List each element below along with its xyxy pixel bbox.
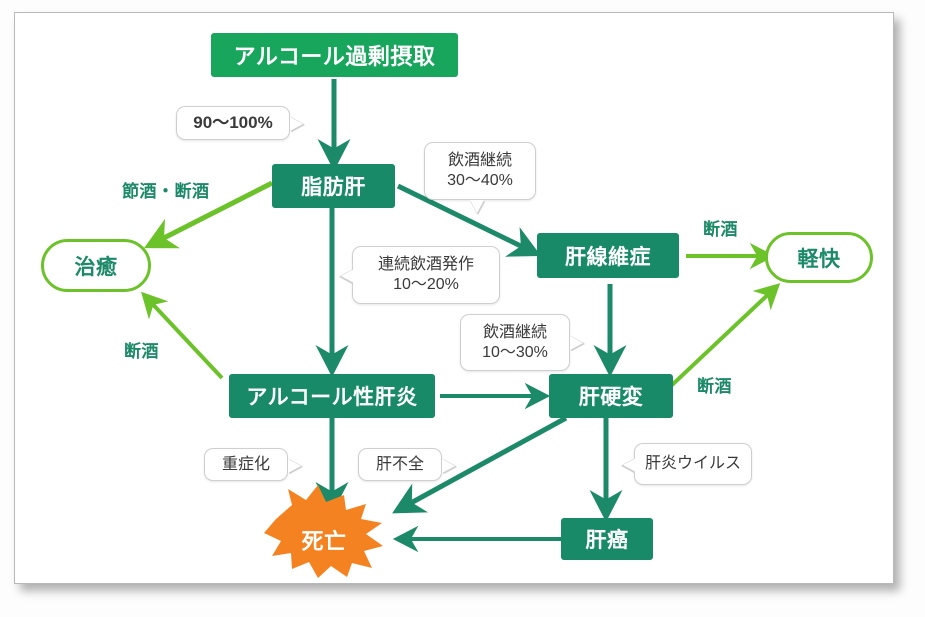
node-liver-cancer[interactable]: 肝癌	[561, 518, 653, 560]
bubble-drinking-continued-30-40: 飲酒継続 30〜40%	[424, 142, 536, 200]
node-label: 肝線維症	[565, 241, 651, 271]
node-label: アルコール性肝炎	[246, 381, 417, 411]
bubble-line: 10〜20%	[393, 275, 459, 295]
bubble-line: 飲酒継続	[448, 151, 512, 171]
node-fatty-liver[interactable]: 脂肪肝	[272, 164, 395, 208]
node-cure[interactable]: 治癒	[41, 239, 151, 292]
bubble-line: 連続飲酒発作	[378, 255, 474, 275]
node-label: 肝癌	[586, 524, 629, 554]
edge-label-abstinence-fibrosis: 断酒	[703, 215, 738, 240]
bubble-line: 飲酒継続	[483, 323, 547, 343]
node-label: 治癒	[75, 251, 118, 281]
node-alcoholic-hepatitis[interactable]: アルコール性肝炎	[229, 374, 435, 418]
edge-label-abstinence-hepatitis: 断酒	[124, 337, 159, 362]
bubble-rate-90-100: 90〜100%	[176, 106, 290, 140]
edge-label-moderation-abstinence: 節酒・断酒	[122, 177, 210, 202]
bubble-line: 30〜40%	[447, 171, 513, 191]
node-improvement[interactable]: 軽快	[765, 232, 873, 283]
bubble-line: 重症化	[222, 455, 270, 475]
bubble-tail-down-icon	[470, 200, 484, 213]
node-excess-alcohol[interactable]: アルコール過剰摂取	[211, 33, 458, 77]
bubble-tail-left-icon	[623, 458, 636, 472]
node-liver-fibrosis[interactable]: 肝線維症	[537, 233, 679, 278]
bubble-line: 10〜30%	[482, 343, 548, 363]
node-label: 肝硬変	[579, 381, 644, 411]
node-label: アルコール過剰摂取	[234, 39, 436, 71]
bubble-liver-failure: 肝不全	[358, 448, 442, 481]
bubble-tail-right-icon	[290, 117, 303, 131]
bubble-severe-progression: 重症化	[204, 448, 288, 481]
bubble-tail-right-icon	[442, 459, 455, 473]
node-death[interactable]: 死亡	[272, 518, 376, 562]
bubble-tail-left-icon	[341, 269, 354, 283]
bubble-line: 肝炎ウイルス	[645, 454, 741, 474]
bubble-drinking-continued-10-30: 飲酒継続 10〜30%	[460, 314, 570, 371]
node-cirrhosis[interactable]: 肝硬変	[549, 374, 673, 418]
bubble-tail-right-icon	[570, 336, 583, 350]
bubble-hepatitis-virus: 肝炎ウイルス	[634, 443, 752, 485]
node-label: 死亡	[301, 524, 346, 556]
node-label: 軽快	[798, 243, 841, 273]
bubble-tail-right-icon	[288, 459, 301, 473]
edge-label-abstinence-cirrhosis: 断酒	[697, 372, 732, 397]
bubble-line: 90〜100%	[193, 112, 272, 133]
diagram-page: アルコール過剰摂取 脂肪肝 肝線維症 アルコール性肝炎 肝硬変 肝癌 治癒 軽快…	[0, 0, 925, 617]
node-label: 脂肪肝	[301, 171, 366, 201]
bubble-line: 肝不全	[376, 455, 424, 475]
bubble-binge-drinking-10-20: 連続飲酒発作 10〜20%	[352, 246, 500, 304]
